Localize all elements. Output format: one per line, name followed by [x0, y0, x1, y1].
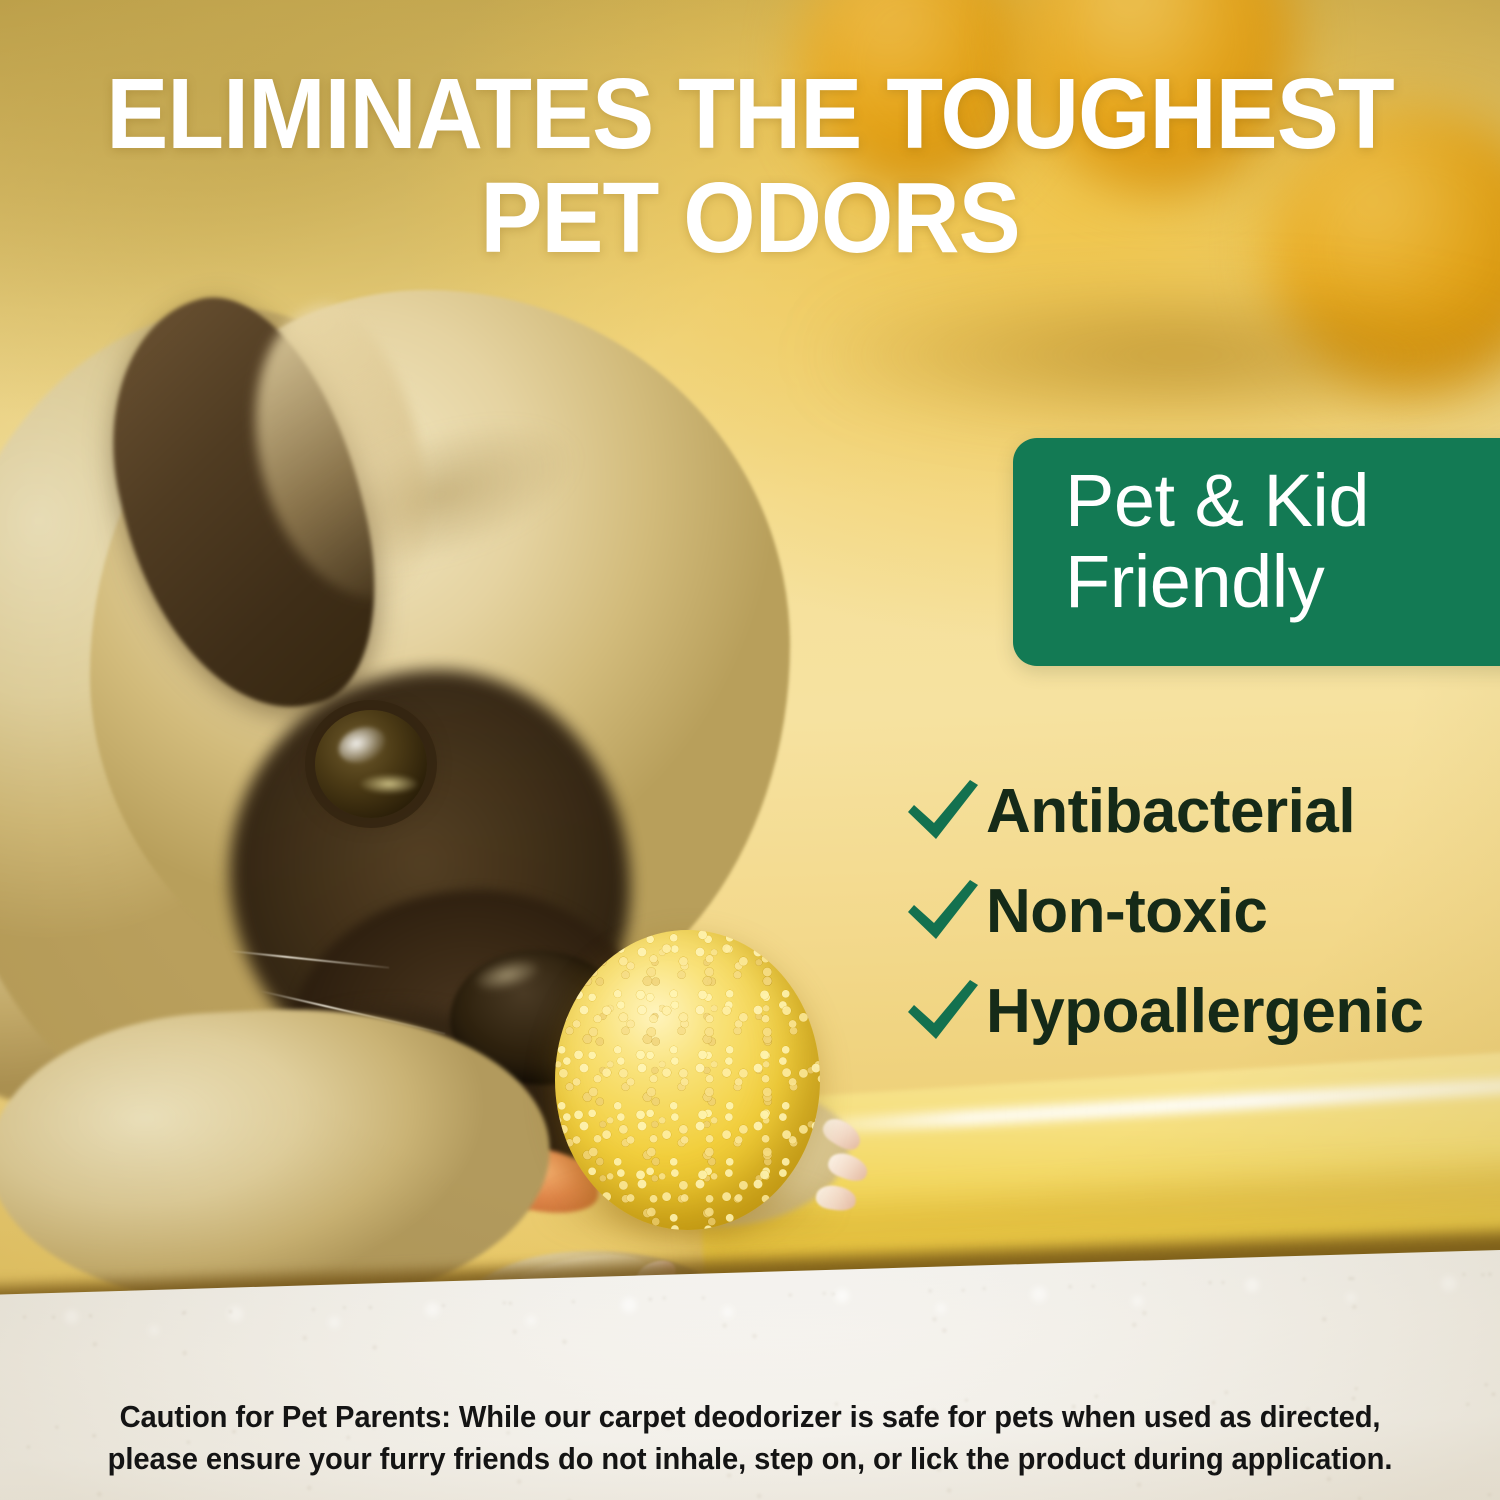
feature-list: Antibacterial Non-toxic Hypoallergenic: [900, 762, 1500, 1062]
page-title: ELIMINATES THE TOUGHEST PET ODORS: [90, 62, 1411, 270]
check-icon: [900, 974, 986, 1050]
feature-label: Hypoallergenic: [986, 981, 1423, 1043]
check-icon: [900, 774, 986, 850]
dog-toy-ball: [555, 930, 820, 1230]
ball-texture-bumps: [555, 930, 820, 1230]
badge-label: Pet & Kid Friendly: [1065, 460, 1485, 623]
list-item: Hypoallergenic: [900, 962, 1500, 1062]
dog-eye-reflection: [360, 774, 418, 794]
feature-label: Antibacterial: [986, 781, 1355, 843]
caution-note: Caution for Pet Parents: While our carpe…: [83, 1396, 1418, 1479]
product-marketing-image: ELIMINATES THE TOUGHEST PET ODORS Pet & …: [0, 0, 1500, 1500]
check-icon: [900, 874, 986, 950]
feature-label: Non-toxic: [986, 881, 1267, 943]
list-item: Non-toxic: [900, 862, 1500, 962]
list-item: Antibacterial: [900, 762, 1500, 862]
fruit-shadow: [830, 290, 1500, 420]
pet-kid-friendly-badge: Pet & Kid Friendly: [1013, 438, 1500, 666]
